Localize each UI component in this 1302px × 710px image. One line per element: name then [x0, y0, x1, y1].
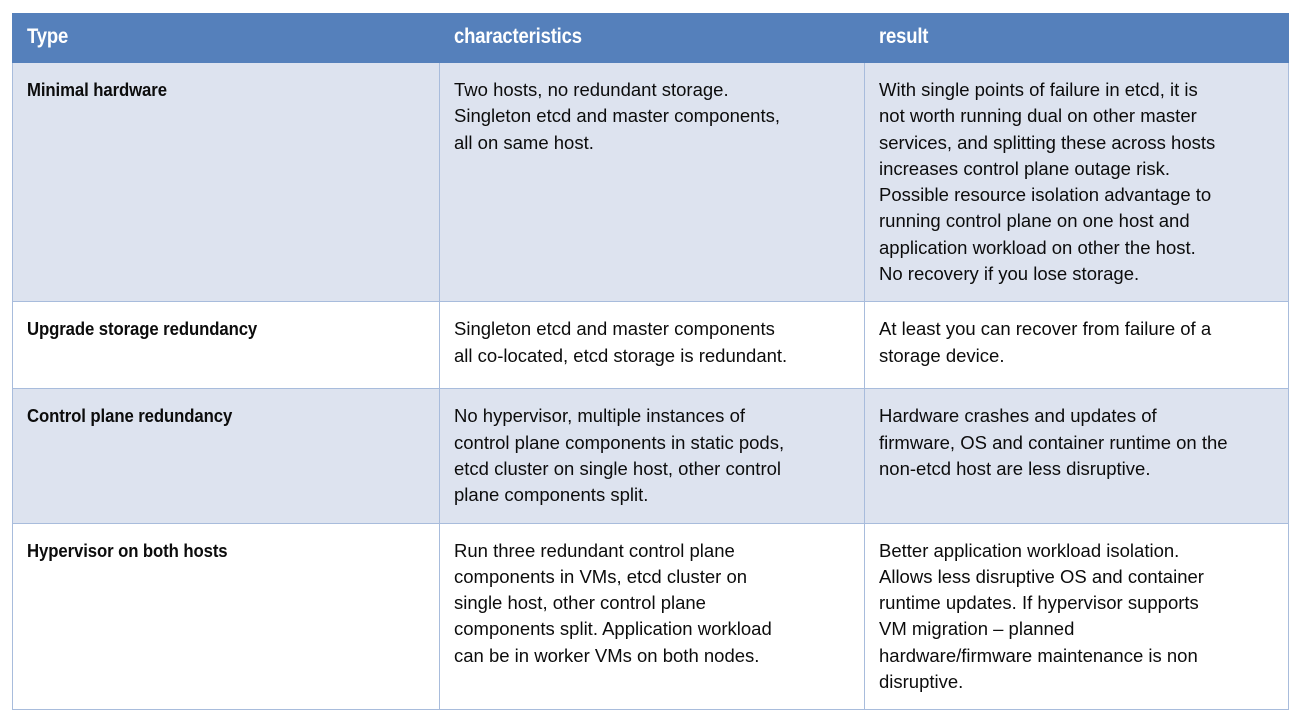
cell-characteristics: Two hosts, no redundant storage. Singlet… — [440, 63, 865, 302]
cell-result: Better application workload isolation. A… — [865, 523, 1289, 710]
cell-type-text: Minimal hardware — [27, 77, 167, 103]
cell-type: Control plane redundancy — [13, 389, 440, 523]
cell-type-text: Hypervisor on both hosts — [27, 538, 228, 564]
cell-type: Hypervisor on both hosts — [13, 523, 440, 710]
table-header: Type characteristics result — [13, 14, 1289, 63]
table-row: Minimal hardware Two hosts, no redundant… — [13, 63, 1289, 302]
cell-type-text: Control plane redundancy — [27, 403, 232, 429]
table-row: Control plane redundancy No hypervisor, … — [13, 389, 1289, 523]
comparison-table: Type characteristics result Minimal hard… — [12, 13, 1289, 710]
cell-characteristics: No hypervisor, multiple instances of con… — [440, 389, 865, 523]
header-row: Type characteristics result — [13, 14, 1289, 63]
page-root: Type characteristics result Minimal hard… — [0, 0, 1302, 708]
column-header-characteristics: characteristics — [440, 14, 865, 63]
cell-result: At least you can recover from failure of… — [865, 302, 1289, 389]
column-header-type-label: Type — [27, 25, 68, 49]
cell-characteristics: Singleton etcd and master components all… — [440, 302, 865, 389]
cell-type: Minimal hardware — [13, 63, 440, 302]
column-header-result: result — [865, 14, 1289, 63]
column-header-characteristics-label: characteristics — [454, 25, 582, 49]
column-header-type: Type — [13, 14, 440, 63]
table-body: Minimal hardware Two hosts, no redundant… — [13, 63, 1289, 710]
cell-type: Upgrade storage redundancy — [13, 302, 440, 389]
cell-characteristics: Run three redundant control plane compon… — [440, 523, 865, 710]
column-header-result-label: result — [879, 25, 928, 49]
cell-result: With single points of failure in etcd, i… — [865, 63, 1289, 302]
cell-result: Hardware crashes and updates of firmware… — [865, 389, 1289, 523]
table-row: Upgrade storage redundancy Singleton etc… — [13, 302, 1289, 389]
cell-type-text: Upgrade storage redundancy — [27, 316, 257, 342]
table-row: Hypervisor on both hosts Run three redun… — [13, 523, 1289, 710]
